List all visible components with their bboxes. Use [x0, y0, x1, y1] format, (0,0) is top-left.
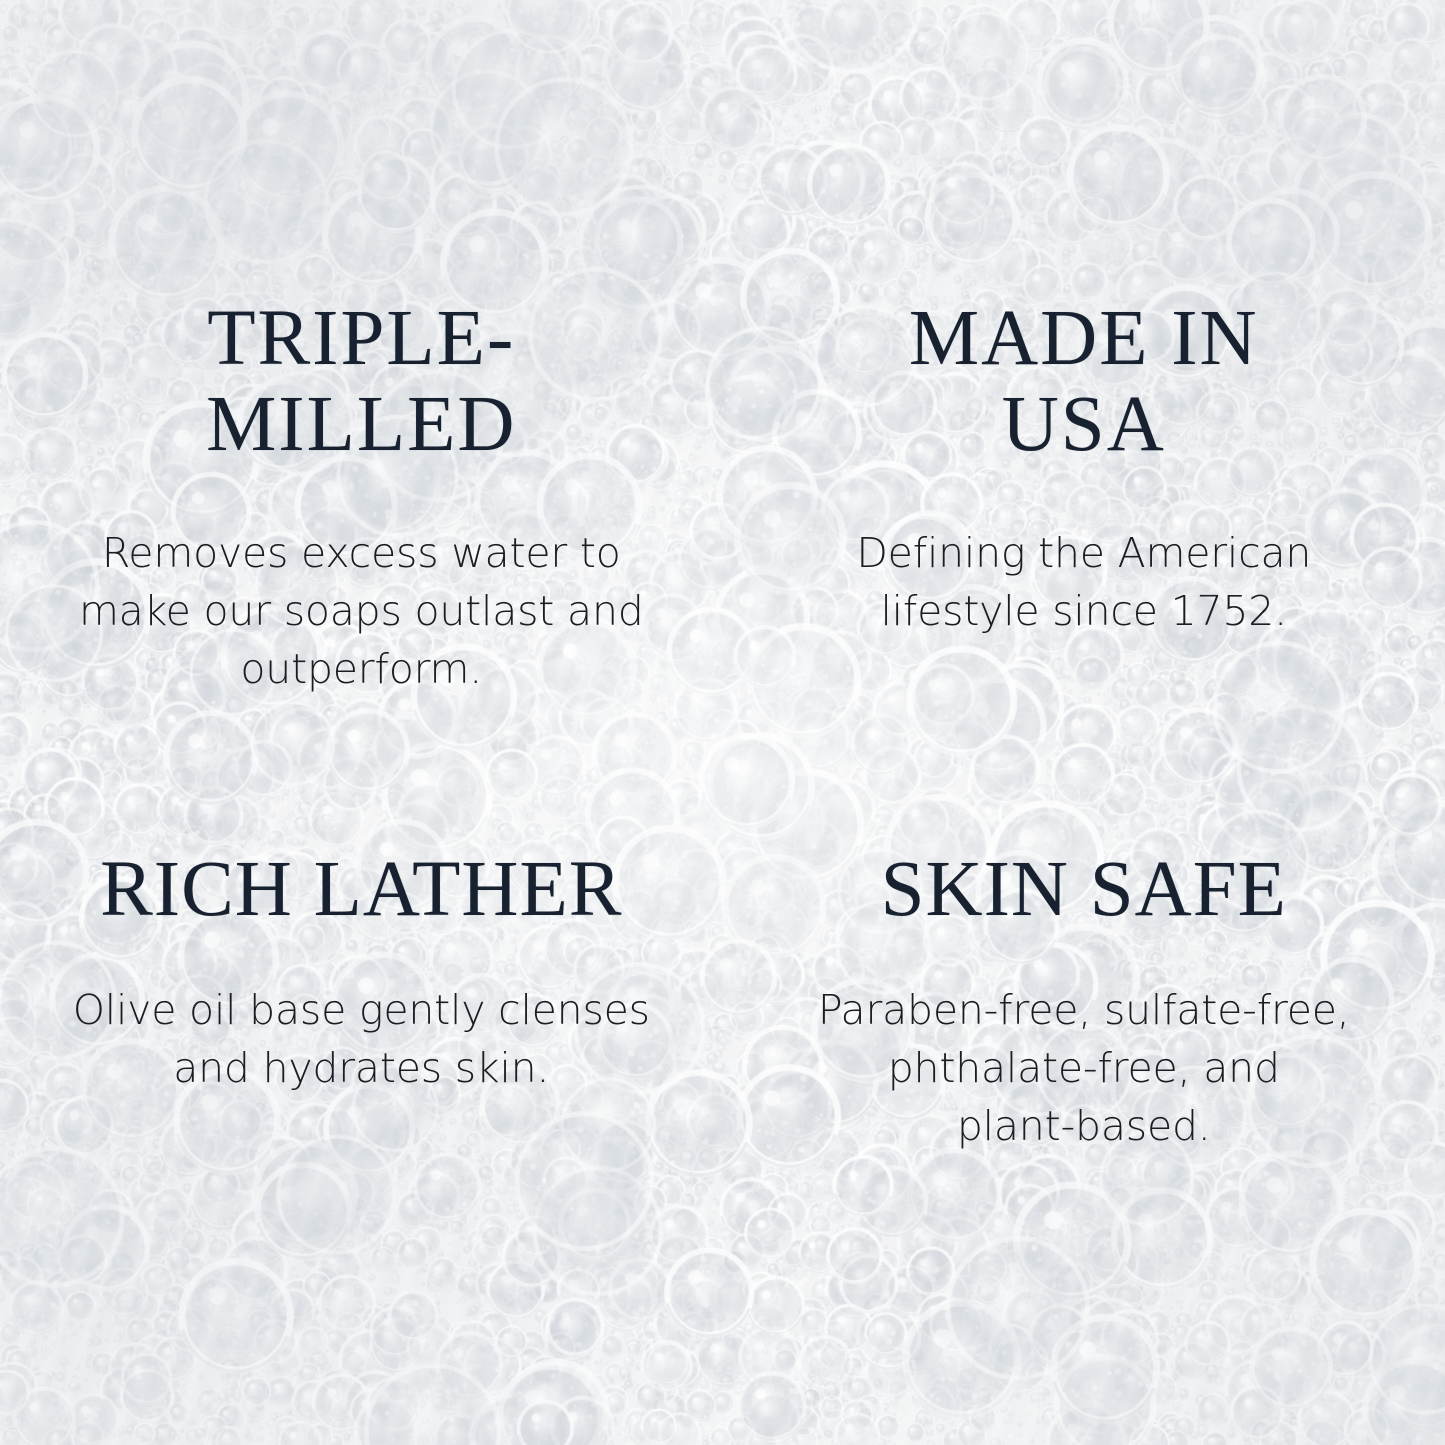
- benefit-heading-rich-lather: RICH LATHER: [100, 847, 622, 933]
- benefit-body-rich-lather: Olive oil base gently clenses and hydrat…: [73, 981, 650, 1097]
- benefit-panel-triple-milled: TRIPLE- MILLED Removes excess water to m…: [0, 0, 723, 723]
- benefit-body-made-in-usa: Defining the American lifestyle since 17…: [856, 524, 1311, 640]
- benefit-panel-made-in-usa: MADE IN USA Defining the American lifest…: [723, 0, 1445, 723]
- benefit-body-skin-safe: Paraben-free, sulfate-free, phthalate-fr…: [818, 981, 1350, 1155]
- benefits-grid: TRIPLE- MILLED Removes excess water to m…: [0, 0, 1445, 1445]
- benefit-heading-skin-safe: SKIN SAFE: [881, 847, 1287, 933]
- benefit-body-triple-milled: Removes excess water to make our soaps o…: [79, 524, 644, 698]
- benefit-panel-rich-lather: RICH LATHER Olive oil base gently clense…: [0, 723, 723, 1445]
- benefit-heading-triple-milled: TRIPLE- MILLED: [206, 296, 516, 468]
- benefit-panel-skin-safe: SKIN SAFE Paraben-free, sulfate-free, ph…: [723, 723, 1445, 1445]
- benefit-heading-made-in-usa: MADE IN USA: [909, 296, 1259, 468]
- infographic-canvas: TRIPLE- MILLED Removes excess water to m…: [0, 0, 1445, 1445]
